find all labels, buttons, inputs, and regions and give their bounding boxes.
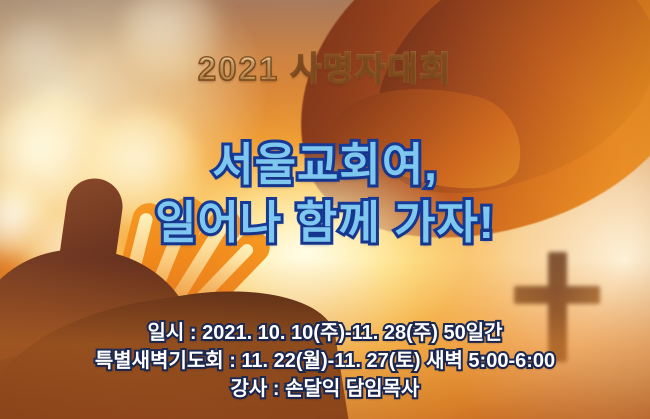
poster-text-group: 2021 사명자대회 서울교회여, 일어나 함께 가자! 일시 : 2021. … (0, 0, 650, 419)
info-line-date: 일시 : 2021. 10. 10(주)-11. 28(주) 50일간 (0, 316, 650, 345)
headline-line-2: 일어나 함께 가자! (0, 186, 650, 251)
info-line-speaker: 강사 : 손달익 담임목사 (0, 372, 650, 401)
poster-image: 2021 사명자대회 서울교회여, 일어나 함께 가자! 일시 : 2021. … (0, 0, 650, 419)
event-subtitle: 2021 사명자대회 (0, 42, 650, 90)
headline-line-1: 서울교회여, (0, 128, 650, 193)
info-line-dawn-prayer: 특별새벽기도회 : 11. 22(월)-11. 27(토) 새벽 5:00-6:… (0, 344, 650, 373)
